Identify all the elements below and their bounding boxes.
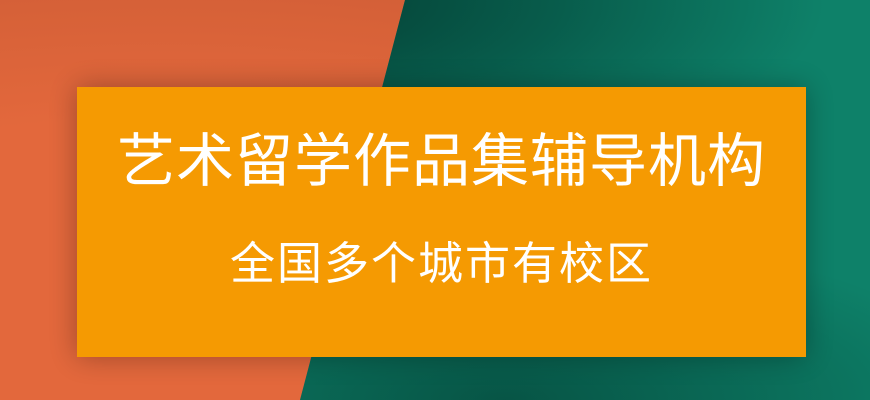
banner-headline: 艺术留学作品集辅导机构 bbox=[117, 133, 766, 191]
promo-banner: 艺术留学作品集辅导机构 全国多个城市有校区 bbox=[0, 0, 870, 400]
headline-card: 艺术留学作品集辅导机构 全国多个城市有校区 bbox=[77, 87, 806, 357]
banner-subheadline: 全国多个城市有校区 bbox=[230, 241, 653, 286]
